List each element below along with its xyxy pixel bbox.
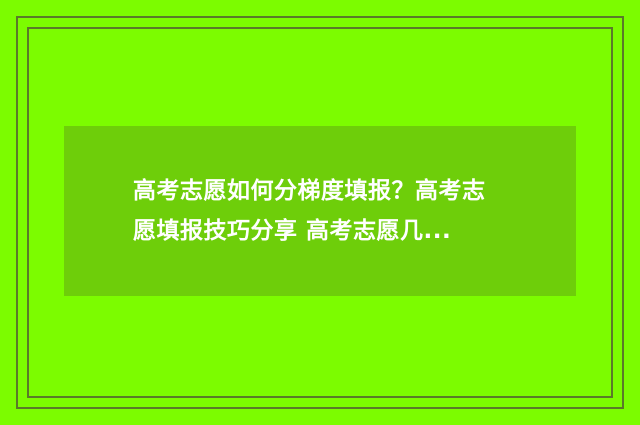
headline-line-1: 高考志愿如何分梯度填报？高考志 bbox=[133, 171, 486, 211]
headline-line-2: 愿填报技巧分享 高考志愿几... bbox=[133, 211, 451, 251]
thumbnail-card: 高考志愿如何分梯度填报？高考志 愿填报技巧分享 高考志愿几... bbox=[0, 0, 640, 425]
headline-panel: 高考志愿如何分梯度填报？高考志 愿填报技巧分享 高考志愿几... bbox=[64, 126, 576, 296]
